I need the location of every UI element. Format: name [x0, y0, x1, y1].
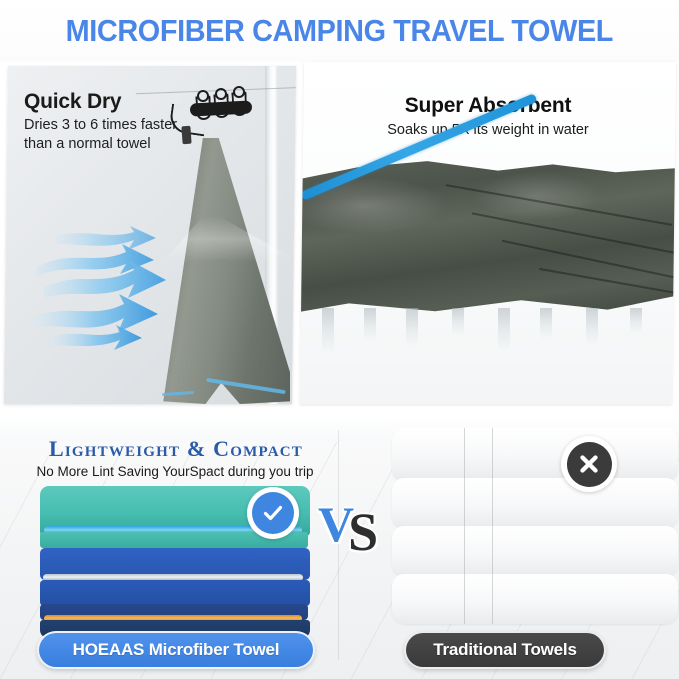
towel-layer-blue: [40, 580, 310, 606]
label-traditional-towels: Traditional Towels: [404, 631, 606, 669]
quick-dry-heading: Quick Dry: [24, 90, 121, 114]
super-absorbent-subtext: Soaks up 5X its weight in water: [302, 122, 674, 138]
check-icon: [252, 492, 294, 534]
x-badge: [561, 436, 617, 492]
product-infographic: MICROFIBER CAMPING TRAVEL TOWEL Quick Dr…: [0, 0, 679, 679]
towel-hang-loop-icon: [181, 126, 191, 145]
title-banner: MICROFIBER CAMPING TRAVEL TOWEL: [0, 0, 679, 62]
airflow-arrows-icon: [30, 226, 210, 366]
water-drips-icon: [300, 308, 676, 360]
white-towel-4: [392, 574, 678, 624]
comparison-subtext: No More Lint Saving YourSpact during you…: [10, 464, 340, 479]
traditional-towel-stack: [392, 428, 679, 624]
page-title: MICROFIBER CAMPING TRAVEL TOWEL: [66, 13, 613, 49]
panel-super-absorbent: Super Absorbent Soaks up 5X its weight i…: [300, 62, 676, 404]
vs-separator: VS: [318, 492, 392, 558]
twisted-wet-towel-image: [300, 158, 676, 358]
panel-quick-dry: Quick Dry Dries 3 to 6 times faster than…: [4, 66, 296, 404]
check-badge: [247, 487, 299, 539]
label-microfiber-towel: HOEAAS Microfiber Towel: [37, 631, 315, 669]
close-icon: [567, 442, 612, 487]
feature-panels-row: Quick Dry Dries 3 to 6 times faster than…: [0, 62, 679, 414]
white-towel-1: [392, 428, 678, 480]
wall-hook-rack-icon: [182, 88, 258, 128]
comparison-heading: Lightweight & Compact: [26, 436, 326, 462]
white-towel-2: [392, 478, 678, 528]
vs-letter-s: S: [348, 502, 378, 562]
white-towel-3: [392, 526, 678, 576]
